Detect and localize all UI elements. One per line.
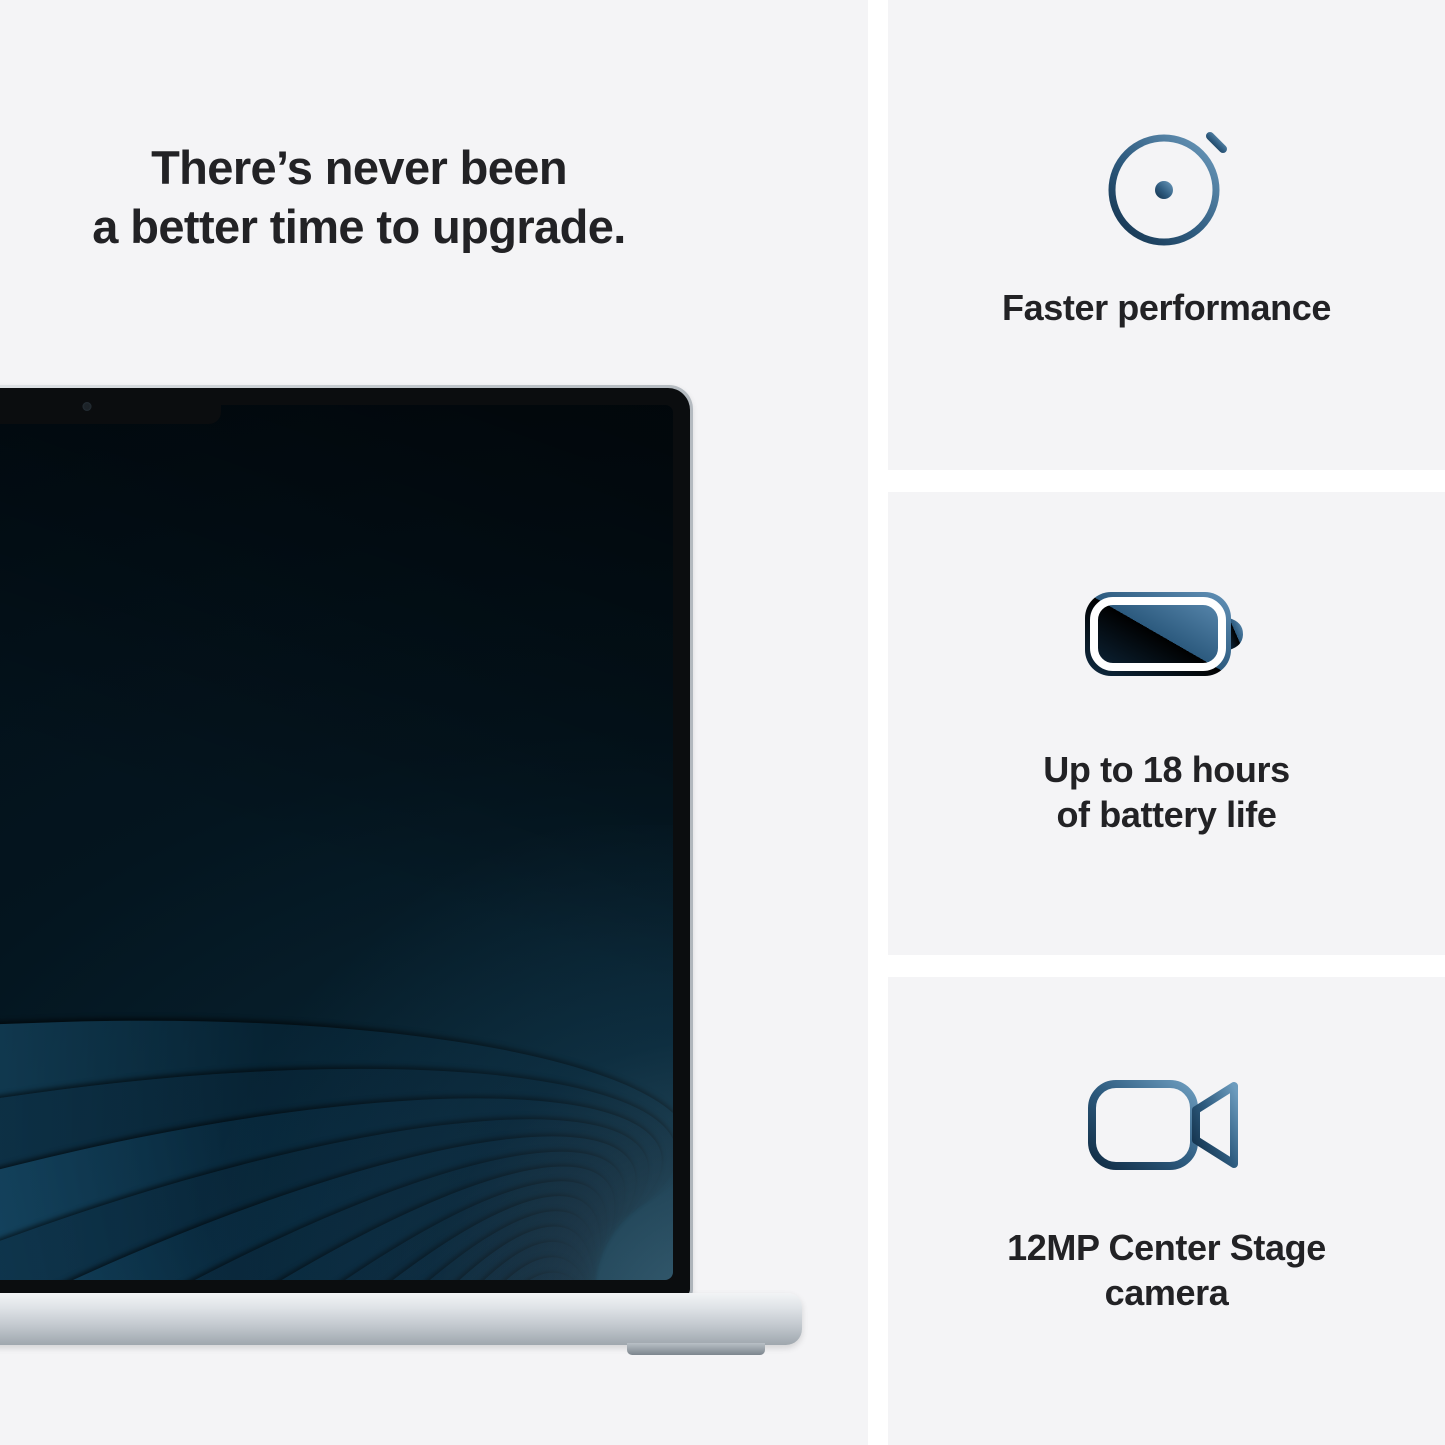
feature-card-camera: 12MP Center Stage camera	[888, 977, 1445, 1445]
stopwatch-icon	[1092, 106, 1242, 251]
video-camera-icon	[1084, 1072, 1249, 1177]
display-notch	[0, 388, 221, 424]
vertical-divider	[868, 0, 888, 1445]
horizontal-divider-1	[888, 470, 1445, 492]
facetime-camera-icon	[82, 402, 91, 411]
horizontal-divider-2	[888, 955, 1445, 977]
feature-label-camera: 12MP Center Stage camera	[983, 1225, 1350, 1316]
feature-card-performance: Faster performance	[888, 0, 1445, 470]
feature-label-line-2: camera	[1105, 1272, 1229, 1313]
laptop-foot	[627, 1343, 765, 1355]
desktop-wallpaper	[0, 405, 673, 1280]
laptop-base	[0, 1293, 802, 1345]
feature-label-line-2: of battery life	[1056, 794, 1276, 835]
feature-label-performance: Faster performance	[978, 285, 1355, 330]
hero-panel: There’s never been a better time to upgr…	[0, 0, 868, 1445]
battery-icon	[1079, 582, 1254, 687]
feature-label-line-1: 12MP Center Stage	[1007, 1227, 1326, 1268]
wallpaper-blades	[0, 405, 673, 1280]
macbook-air-product-image	[0, 385, 695, 1385]
feature-label-line-1: Up to 18 hours	[1043, 749, 1289, 790]
feature-label-battery: Up to 18 hours of battery life	[1019, 747, 1313, 838]
laptop-lid	[0, 385, 693, 1300]
page-title: There’s never been a better time to upgr…	[0, 138, 868, 256]
laptop-screen	[0, 405, 673, 1280]
laptop-bezel	[0, 388, 690, 1297]
feature-label-line-1: Faster performance	[1002, 287, 1331, 328]
headline-line-1: There’s never been	[151, 141, 567, 194]
marketing-panel: There’s never been a better time to upgr…	[0, 0, 1445, 1445]
feature-card-battery: Up to 18 hours of battery life	[888, 492, 1445, 955]
headline-line-2: a better time to upgrade.	[92, 200, 625, 253]
